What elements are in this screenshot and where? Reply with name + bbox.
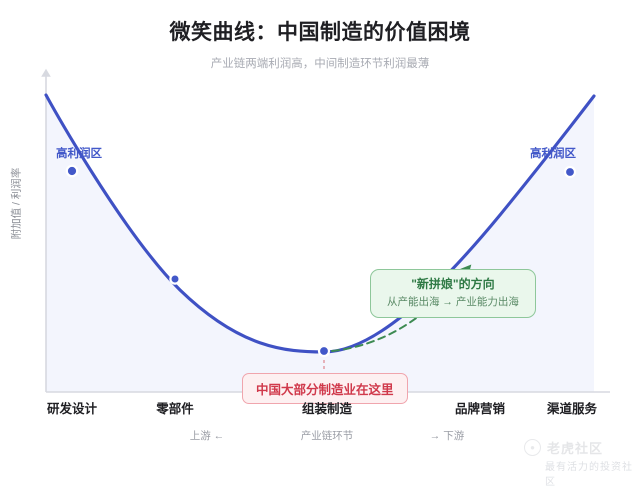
x-label-lingbujian: 零部件 — [156, 398, 194, 417]
x-axis-labels: 研发设计 零部件 组装制造 品牌营销 渠道服务 — [0, 398, 640, 418]
watermark: ● 老虎社区 — [524, 438, 603, 457]
axis-note-upstream: 上游 ← — [190, 428, 224, 443]
axis-note-downstream: → 下游 — [430, 428, 464, 443]
marker-qudaofuwu[interactable] — [565, 167, 575, 177]
x-label-zuzhuangzhizao: 组装制造 — [302, 398, 352, 417]
region-label-right: 高利润区 — [530, 145, 576, 161]
x-label-qudaofuwu: 渠道服务 — [547, 398, 597, 417]
marker-yanfasheji[interactable] — [67, 166, 77, 176]
tiger-icon: ● — [524, 439, 541, 456]
x-label-yanfasheji: 研发设计 — [47, 398, 97, 417]
callout-upgrade-subtitle: 从产能出海 → 产业能力出海 — [387, 293, 519, 310]
marker-zuzhuangzhizao[interactable] — [319, 346, 329, 356]
axis-note-center: 产业链环节 — [301, 428, 354, 443]
y-axis-title: 附加值 / 利润率 — [9, 164, 24, 244]
callout-upgrade-direction[interactable]: "新拼娘"的方向 从产能出海 → 产业能力出海 — [370, 269, 536, 318]
region-label-left: 高利润区 — [56, 145, 102, 161]
marker-lingbujian[interactable] — [170, 274, 179, 283]
smile-curve-chart: 微笑曲线：中国制造的价值困境 产业链两端利润高，中间制造环节利润最薄 — [0, 0, 640, 484]
x-label-pinpaiyingxiao: 品牌营销 — [455, 398, 505, 417]
watermark-name: 老虎社区 — [547, 438, 603, 457]
callout-upgrade-title: "新拼娘"的方向 — [387, 277, 519, 293]
